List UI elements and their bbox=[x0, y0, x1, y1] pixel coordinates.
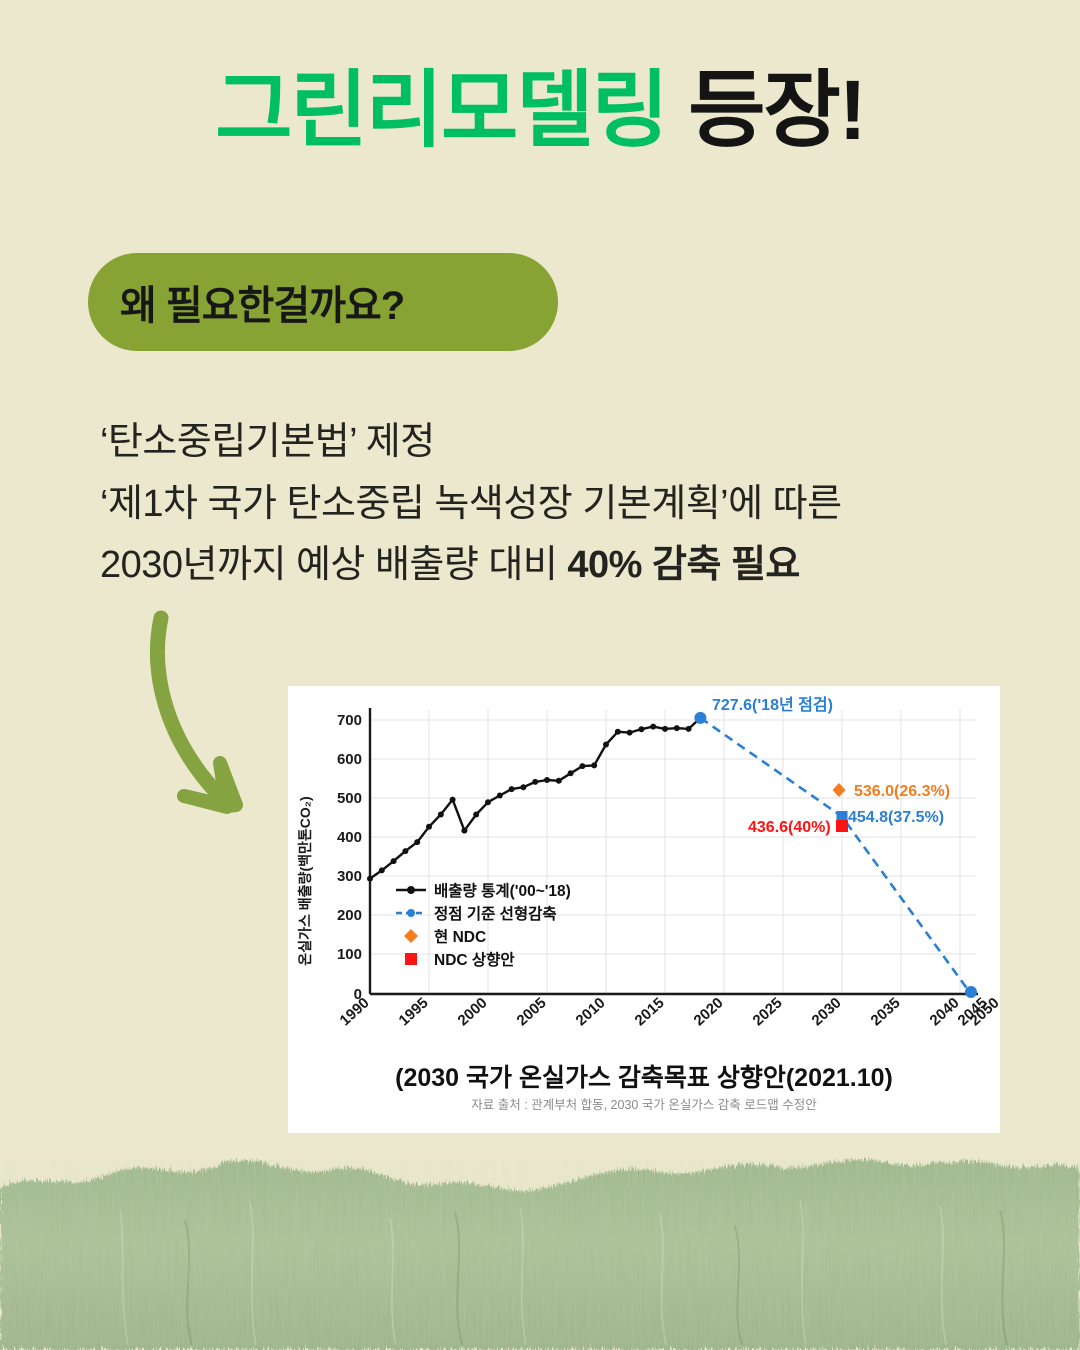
legend-label-ndc-upgrade: NDC 상향안 bbox=[434, 950, 515, 969]
annotation-current-ndc: 536.0(26.3%) bbox=[854, 783, 950, 800]
body-line-1: ‘탄소중립기본법’ 제정 bbox=[100, 412, 1000, 474]
page-title: 그린리모델링 등장! bbox=[0, 62, 1080, 159]
y-axis-label: 온실가스 배출량(백만톤CO₂) bbox=[297, 796, 313, 965]
body-paragraph: ‘탄소중립기본법’ 제정 ‘제1차 국가 탄소중립 녹색성장 기본계획’에 따른… bbox=[100, 412, 1000, 597]
moss-texture-band bbox=[0, 1140, 1080, 1350]
svg-text:700: 700 bbox=[337, 712, 362, 729]
svg-text:200: 200 bbox=[337, 907, 362, 924]
question-pill-label: 왜 필요한걸까요? bbox=[88, 273, 404, 331]
chart-card: 700 600 500 400 300 200 100 0 온실가스 배출량(백… bbox=[288, 686, 1000, 1133]
point-ndc-upgrade-2030 bbox=[836, 820, 848, 832]
legend-label-linear: 정점 기준 선형감축 bbox=[434, 904, 557, 923]
body-line-3: 2030년까지 예상 배출량 대비 40% 감축 필요 bbox=[100, 535, 1000, 597]
moss-fibers bbox=[0, 1192, 1080, 1350]
emissions-chart: 700 600 500 400 300 200 100 0 온실가스 배출량(백… bbox=[288, 686, 1000, 1133]
body-line-3-emphasis: 40% 감축 필요 bbox=[567, 544, 800, 586]
page-title-black: 등장! bbox=[688, 63, 865, 157]
annotation-linear-2030: 454.8(37.5%) bbox=[848, 809, 944, 826]
svg-text:400: 400 bbox=[337, 829, 362, 846]
svg-text:100: 100 bbox=[337, 946, 362, 963]
annotation-peak-2018: 727.6('18년 점검) bbox=[712, 695, 833, 714]
body-line-2: ‘제1차 국가 탄소중립 녹색성장 기본계획’에 따른 bbox=[100, 474, 1000, 536]
annotation-ndc-upgrade: 436.6(40%) bbox=[748, 819, 831, 836]
point-netzero-2050 bbox=[965, 986, 977, 998]
question-pill: 왜 필요한걸까요? bbox=[88, 253, 558, 351]
body-line-3-plain: 2030년까지 예상 배출량 대비 bbox=[100, 544, 567, 586]
page-title-green: 그린리모델링 bbox=[215, 63, 667, 157]
svg-text:500: 500 bbox=[337, 790, 362, 807]
point-peak-2018 bbox=[694, 712, 706, 724]
svg-text:300: 300 bbox=[337, 868, 362, 885]
chart-caption: (2030 국가 온실가스 감축목표 상향안(2021.10) bbox=[395, 1064, 893, 1092]
legend-label-current-ndc: 현 NDC bbox=[434, 927, 486, 946]
chart-source: 자료 출처 : 관계부처 합동, 2030 국가 온실가스 감축 로드맵 수정안 bbox=[471, 1098, 817, 1112]
svg-text:600: 600 bbox=[337, 751, 362, 768]
curved-down-arrow-icon bbox=[128, 600, 278, 825]
legend-label-emissions: 배출량 통계('00~'18) bbox=[434, 881, 571, 900]
